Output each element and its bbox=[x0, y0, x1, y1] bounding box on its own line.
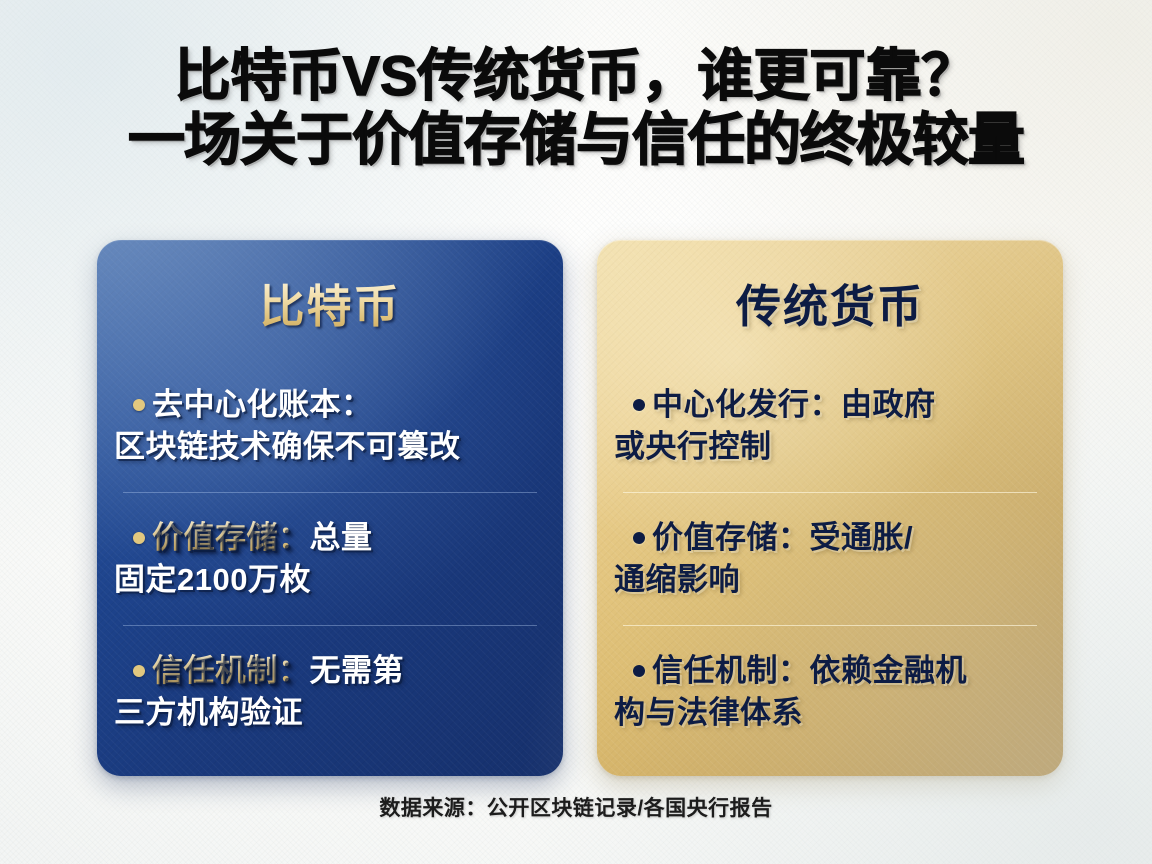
bullet-detail: 区块链技术确保不可篡改 bbox=[114, 426, 461, 468]
bullet-dot-icon bbox=[133, 532, 145, 544]
bullet-dot-icon bbox=[633, 399, 645, 411]
bullet-detail-line-1: 总量 bbox=[310, 520, 373, 555]
card-fiat-heading: 传统货币 bbox=[623, 278, 1037, 336]
bullet-detail-line-1: 无需第 bbox=[310, 653, 405, 688]
bullet-detail-line-2: 固定2100万枚 bbox=[114, 559, 373, 601]
card-fiat-bullet-list: 中心化发行：由政府 或央行控制 价值存储：受通胀/ 通缩影响 bbox=[623, 360, 1037, 758]
bullet-text: 信任机制：依赖金融机 构与法律体系 bbox=[652, 650, 967, 734]
list-item[interactable]: 价值存储：受通胀/ 通缩影响 bbox=[623, 492, 1037, 625]
bullet-detail-line-1: 由政府 bbox=[841, 387, 936, 422]
bullet-label: 价值存储： bbox=[652, 520, 810, 555]
card-bitcoin[interactable]: 比特币 去中心化账本： 区块链技术确保不可篡改 bbox=[97, 240, 563, 776]
source-note: 数据来源：公开区块链记录/各国央行报告 bbox=[0, 795, 1152, 823]
bullet-label: 信任机制： bbox=[652, 653, 810, 688]
bullet-detail-line-2: 通缩影响 bbox=[614, 559, 913, 601]
bullet-dot-icon bbox=[133, 665, 145, 677]
list-item[interactable]: 信任机制：依赖金融机 构与法律体系 bbox=[623, 625, 1037, 758]
list-item[interactable]: 价值存储：总量 固定2100万枚 bbox=[123, 492, 537, 625]
slide-canvas: 比特币VS传统货币，谁更可靠？ 一场关于价值存储与信任的终极较量 比特币 去中心… bbox=[0, 0, 1152, 864]
title-line-1: 比特币VS传统货币，谁更可靠？ bbox=[0, 44, 1152, 108]
bullet-label: 信任机制： bbox=[152, 653, 310, 688]
bullet-text: 去中心化账本： 区块链技术确保不可篡改 bbox=[152, 384, 461, 468]
bullet-detail-line-1: 依赖金融机 bbox=[810, 653, 968, 688]
bullet-label: 中心化发行： bbox=[652, 387, 841, 422]
card-fiat[interactable]: 传统货币 中心化发行：由政府 或央行控制 价值存 bbox=[597, 240, 1063, 776]
bullet-detail-line-2: 三方机构验证 bbox=[114, 692, 404, 734]
bullet-detail-line-1: 受通胀/ bbox=[810, 520, 914, 555]
bullet-detail-line-2: 构与法律体系 bbox=[614, 692, 967, 734]
bullet-dot-icon bbox=[633, 665, 645, 677]
card-bitcoin-heading: 比特币 bbox=[123, 278, 537, 336]
bullet-text: 中心化发行：由政府 或央行控制 bbox=[652, 384, 936, 468]
bullet-text: 价值存储：受通胀/ 通缩影响 bbox=[652, 517, 913, 601]
page-title: 比特币VS传统货币，谁更可靠？ 一场关于价值存储与信任的终极较量 bbox=[0, 44, 1152, 172]
bullet-dot-icon bbox=[633, 532, 645, 544]
bullet-text: 信任机制：无需第 三方机构验证 bbox=[152, 650, 404, 734]
bullet-dot-icon bbox=[133, 399, 145, 411]
bullet-text: 价值存储：总量 固定2100万枚 bbox=[152, 517, 373, 601]
bullet-detail-line-2: 或央行控制 bbox=[614, 426, 936, 468]
list-item[interactable]: 中心化发行：由政府 或央行控制 bbox=[623, 360, 1037, 492]
bullet-label: 去中心化账本： bbox=[152, 387, 373, 422]
bullet-label: 价值存储： bbox=[152, 520, 310, 555]
list-item[interactable]: 信任机制：无需第 三方机构验证 bbox=[123, 625, 537, 758]
card-bitcoin-bullet-list: 去中心化账本： 区块链技术确保不可篡改 价值存储：总量 固定2100万枚 bbox=[123, 360, 537, 758]
title-line-2: 一场关于价值存储与信任的终极较量 bbox=[0, 108, 1152, 172]
list-item[interactable]: 去中心化账本： 区块链技术确保不可篡改 bbox=[123, 360, 537, 492]
